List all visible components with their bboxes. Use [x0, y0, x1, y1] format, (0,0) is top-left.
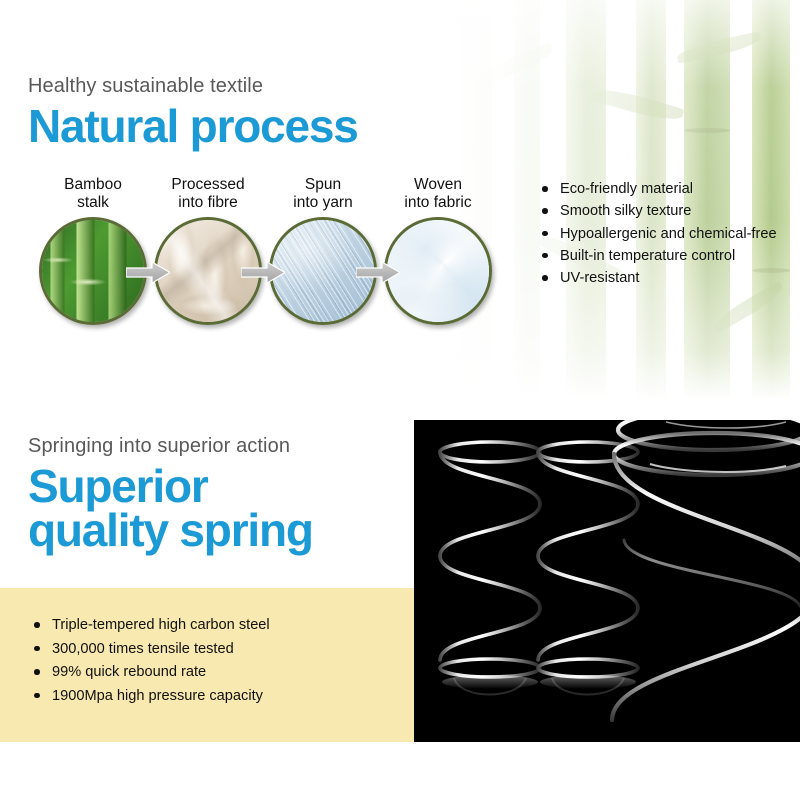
bamboo-fabric-circle	[384, 217, 492, 325]
list-item: Built-in temperature control	[540, 245, 777, 267]
process-step-processed-into-fibre: Processed into fibre	[149, 176, 267, 212]
natural-feature-list: Eco-friendly material Smooth silky textu…	[540, 178, 777, 290]
list-item: UV-resistant	[540, 267, 777, 289]
list-item: 99% quick rebound rate	[32, 661, 270, 685]
section-superior-spring: Springing into superior action Superior …	[0, 400, 800, 800]
arrow-right-icon	[126, 262, 170, 283]
process-step-woven-into-fabric: Woven into fabric	[379, 176, 497, 212]
spring-headline: Superior quality spring	[28, 464, 313, 552]
arrow-right-icon	[241, 262, 285, 283]
spring-feature-list: Triple-tempered high carbon steel 300,00…	[32, 614, 270, 709]
section-natural-process: Healthy sustainable textile Natural proc…	[0, 0, 800, 400]
natural-headline: Natural process	[28, 104, 358, 148]
list-item: Hypoallergenic and chemical-free	[540, 223, 777, 245]
arrow-right-icon	[356, 262, 400, 283]
step-label: Woven into fabric	[379, 176, 497, 212]
process-step-spun-into-yarn: Spun into yarn	[264, 176, 382, 212]
list-item: 300,000 times tensile tested	[32, 638, 270, 662]
spring-eyebrow: Springing into superior action	[28, 435, 290, 458]
step-label: Processed into fibre	[149, 176, 267, 212]
infographic-page: Healthy sustainable textile Natural proc…	[0, 0, 800, 800]
natural-eyebrow: Healthy sustainable textile	[28, 75, 263, 98]
step-label: Bamboo stalk	[34, 176, 152, 212]
list-item: Triple-tempered high carbon steel	[32, 614, 270, 638]
list-item: 1900Mpa high pressure capacity	[32, 685, 270, 709]
process-step-bamboo-stalk: Bamboo stalk	[34, 176, 152, 212]
list-item: Eco-friendly material	[540, 178, 777, 200]
process-steps: Bamboo stalk Proces	[34, 176, 494, 362]
list-item: Smooth silky texture	[540, 200, 777, 222]
coil-springs-photo	[414, 420, 800, 742]
step-label: Spun into yarn	[264, 176, 382, 212]
